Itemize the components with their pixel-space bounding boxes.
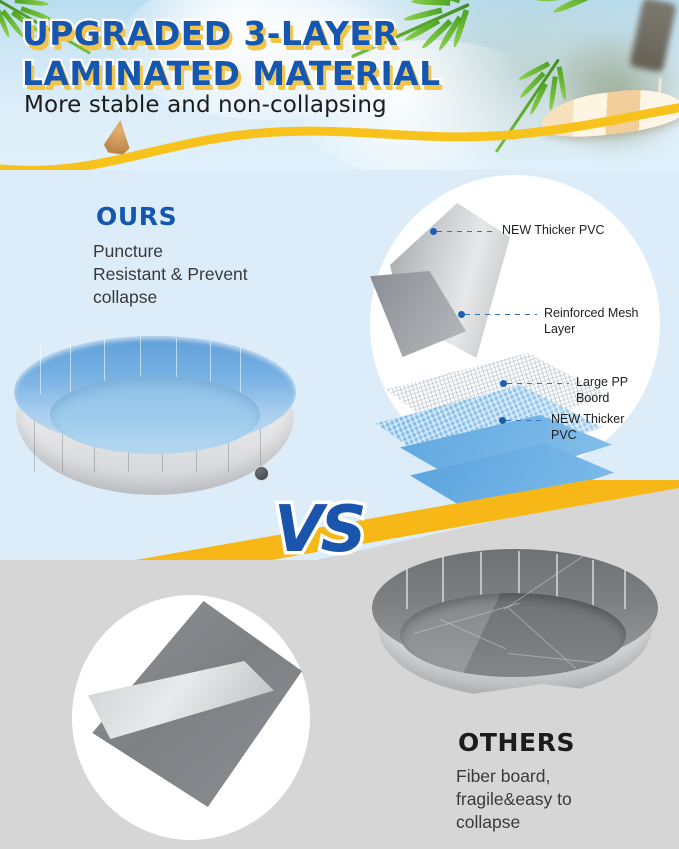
- callout-label: NEW Thicker PVC: [551, 411, 624, 443]
- callout-new-thicker-pvc-bottom: NEW Thicker PVC: [499, 411, 624, 443]
- callout-leader-line: [507, 383, 569, 384]
- vs-badge: VS: [274, 498, 364, 562]
- callout-label: Reinforced Mesh Layer: [544, 305, 639, 337]
- callout-dot: [430, 228, 437, 235]
- others-description: Fiber board, fragile&easy to collapse: [456, 765, 646, 834]
- ours-pool-illustration: [14, 330, 304, 505]
- callout-dot: [499, 417, 506, 424]
- callout-leader-line: [465, 314, 537, 315]
- callout-leader-line: [506, 420, 544, 421]
- header-title-line-2: LAMINATED MATERIAL: [22, 54, 492, 94]
- others-pool-floor: [400, 593, 626, 677]
- header-title-line-1: UPGRADED 3-LAYER: [22, 14, 492, 54]
- header-title-group: UPGRADED 3-LAYER LAMINATED MATERIAL: [22, 14, 492, 94]
- callout-large-pp-board: Large PP Boord: [500, 374, 628, 406]
- callout-new-thicker-pvc-top: NEW Thicker PVC: [430, 222, 605, 238]
- others-material-detail-circle: [72, 595, 310, 840]
- others-label: OTHERS: [458, 728, 575, 757]
- others-pool-illustration: [372, 545, 662, 720]
- callout-reinforced-mesh: Reinforced Mesh Layer: [458, 305, 639, 337]
- pool-floor: [50, 376, 260, 454]
- callout-dot: [458, 311, 465, 318]
- callout-leader-line: [437, 231, 495, 232]
- ours-label: OURS: [96, 202, 177, 231]
- infographic-page: UPGRADED 3-LAYER LAMINATED MATERIAL More…: [0, 0, 679, 849]
- callout-label: NEW Thicker PVC: [502, 222, 605, 238]
- callout-dot: [500, 380, 507, 387]
- drain-plug-icon: [254, 466, 269, 481]
- ours-description: Puncture Resistant & Prevent collapse: [93, 240, 308, 309]
- callout-label: Large PP Boord: [576, 374, 628, 406]
